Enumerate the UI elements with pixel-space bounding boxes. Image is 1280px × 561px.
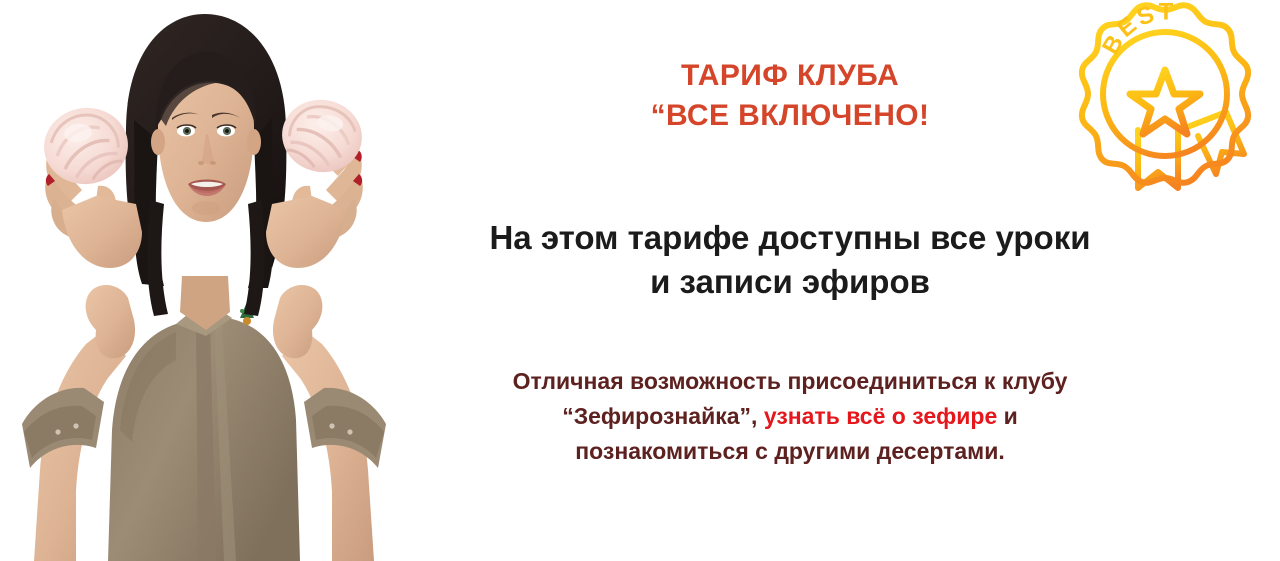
- club-tariff-title: ТАРИФ КЛУБА “ВСЕ ВКЛЮЧЕНО!: [420, 56, 1160, 136]
- body-line-1: Отличная возможность присоединиться к кл…: [420, 364, 1160, 399]
- woman-holding-zephyr-photo: [0, 0, 400, 561]
- body-line-2: “Зефирознайка”, узнать всё о зефире и: [420, 399, 1160, 434]
- body-description: Отличная возможность присоединиться к кл…: [420, 364, 1160, 469]
- title-line-1: ТАРИФ КЛУБА: [420, 56, 1160, 96]
- promo-banner: ТАРИФ КЛУБА “ВСЕ ВКЛЮЧЕНО! На этом тариф…: [0, 0, 1280, 561]
- body-line-2-suffix: и: [997, 403, 1018, 429]
- content-column: ТАРИФ КЛУБА “ВСЕ ВКЛЮЧЕНО! На этом тариф…: [420, 0, 1160, 561]
- headline-line-2: и записи эфиров: [420, 260, 1160, 304]
- headline: На этом тарифе доступны все уроки и запи…: [420, 216, 1160, 304]
- body-line-2-highlight: узнать всё о зефире: [764, 403, 997, 429]
- body-line-2-prefix: “Зефирознайка”,: [562, 403, 764, 429]
- best-award-rosette-icon: BEST: [1058, 2, 1273, 202]
- title-line-2: “ВСЕ ВКЛЮЧЕНО!: [420, 96, 1160, 136]
- body-line-3: познакомиться с другими десертами.: [420, 434, 1160, 469]
- headline-line-1: На этом тарифе доступны все уроки: [420, 216, 1160, 260]
